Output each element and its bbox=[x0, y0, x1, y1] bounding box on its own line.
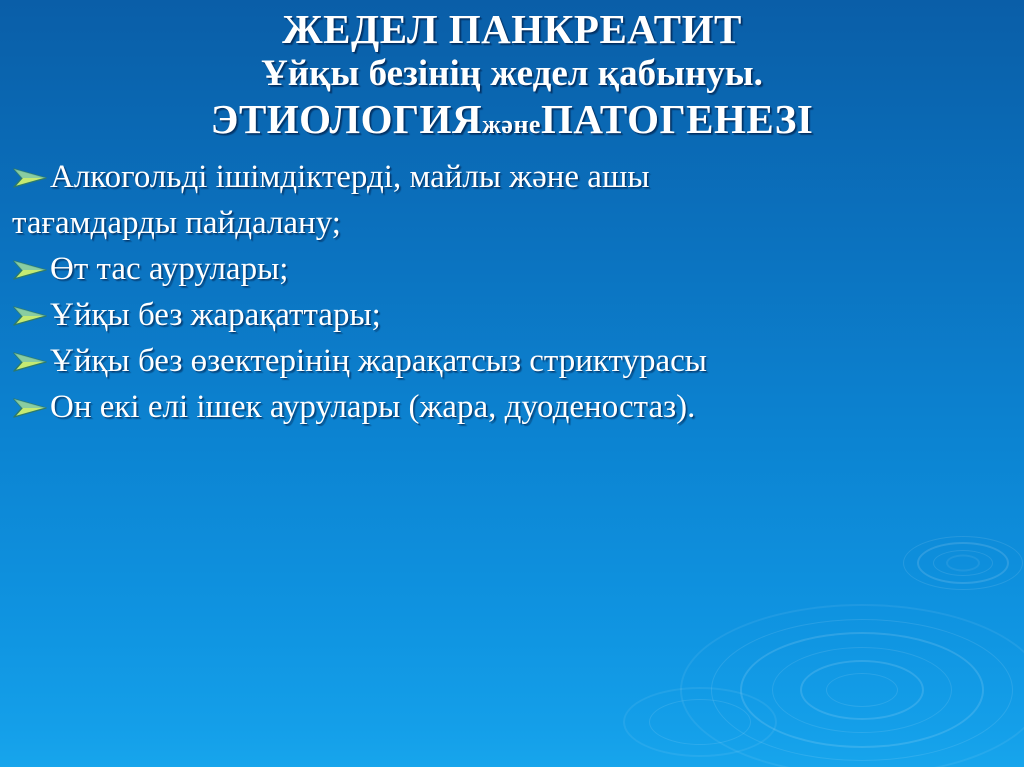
ripple-ring bbox=[740, 632, 984, 748]
presentation-slide: ЖЕДЕЛ ПАНКРЕАТИТ Ұйқы безінің жедел қабы… bbox=[0, 0, 1024, 767]
ripple-ring bbox=[772, 647, 952, 733]
slide-content: ЖЕДЕЛ ПАНКРЕАТИТ Ұйқы безінің жедел қабы… bbox=[0, 0, 1024, 430]
title-line-main: ЖЕДЕЛ ПАНКРЕАТИТ bbox=[0, 6, 1024, 52]
list-item: Он екі елі ішек аурулары (жара, дуоденос… bbox=[0, 384, 1024, 430]
title-section-conjunction: және bbox=[482, 110, 541, 139]
list-item: Алкогольді ішімдіктерді, майлы және ашы bbox=[0, 154, 1024, 200]
ripple-ring bbox=[903, 536, 1023, 590]
list-item: Ұйқы без өзектерінің жарақатсыз стриктур… bbox=[0, 338, 1024, 384]
arrowhead-bullet-icon bbox=[12, 350, 48, 374]
ripple-ring bbox=[917, 542, 1009, 584]
arrowhead-bullet-icon bbox=[12, 166, 48, 190]
ripple-ring bbox=[800, 660, 924, 720]
list-item-label: Алкогольді ішімдіктерді, майлы және ашы bbox=[50, 159, 650, 195]
ripple-ring bbox=[933, 550, 993, 576]
ripple-ring bbox=[826, 673, 898, 707]
ripple-ring bbox=[649, 699, 751, 745]
list-item-continuation: тағамдарды пайдалану; bbox=[0, 200, 1024, 246]
ripple-ring bbox=[623, 687, 777, 757]
list-item-label: Он екі елі ішек аурулары (жара, дуоденос… bbox=[50, 389, 695, 425]
arrowhead-bullet-icon bbox=[12, 258, 48, 282]
title-line-section: ЭТИОЛОГИЯжәнеПАТОГЕНЕЗІ bbox=[0, 96, 1024, 148]
title-section-part2: ПАТОГЕНЕЗІ bbox=[541, 96, 813, 142]
title-line-subtitle: Ұйқы безінің жедел қабынуы. bbox=[0, 52, 1024, 96]
list-item-label: тағамдарды пайдалану; bbox=[12, 205, 341, 241]
list-item-label: Ұйқы без өзектерінің жарақатсыз стриктур… bbox=[50, 343, 707, 379]
arrowhead-bullet-icon bbox=[12, 304, 48, 328]
ripple-ring bbox=[711, 619, 1013, 761]
bullet-list: Алкогольді ішімдіктерді, майлы және ашы … bbox=[0, 154, 1024, 430]
ripple-ring bbox=[680, 604, 1024, 767]
list-item-label: Өт тас аурулары; bbox=[50, 251, 288, 287]
list-item: Өт тас аурулары; bbox=[0, 246, 1024, 292]
list-item: Ұйқы без жарақаттары; bbox=[0, 292, 1024, 338]
arrowhead-bullet-icon bbox=[12, 396, 48, 420]
list-item-label: Ұйқы без жарақаттары; bbox=[50, 297, 381, 333]
ripple-ring bbox=[946, 555, 980, 572]
title-section-part1: ЭТИОЛОГИЯ bbox=[211, 96, 482, 142]
slide-title-block: ЖЕДЕЛ ПАНКРЕАТИТ Ұйқы безінің жедел қабы… bbox=[0, 0, 1024, 148]
